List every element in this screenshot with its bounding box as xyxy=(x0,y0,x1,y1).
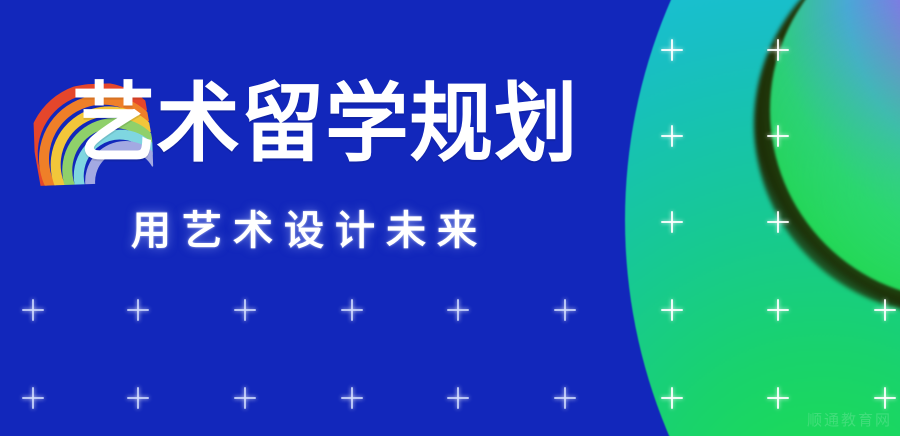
subtitle-tagline: 用艺术设计未来 xyxy=(131,206,488,256)
iridescent-sphere xyxy=(770,0,900,300)
page-title: 艺术留学规划 xyxy=(72,76,578,172)
watermark: 顺通教育网 xyxy=(807,409,892,430)
art-study-abroad-banner: 艺术留学规划 用艺术设计未来 顺通教育网 xyxy=(0,0,900,436)
